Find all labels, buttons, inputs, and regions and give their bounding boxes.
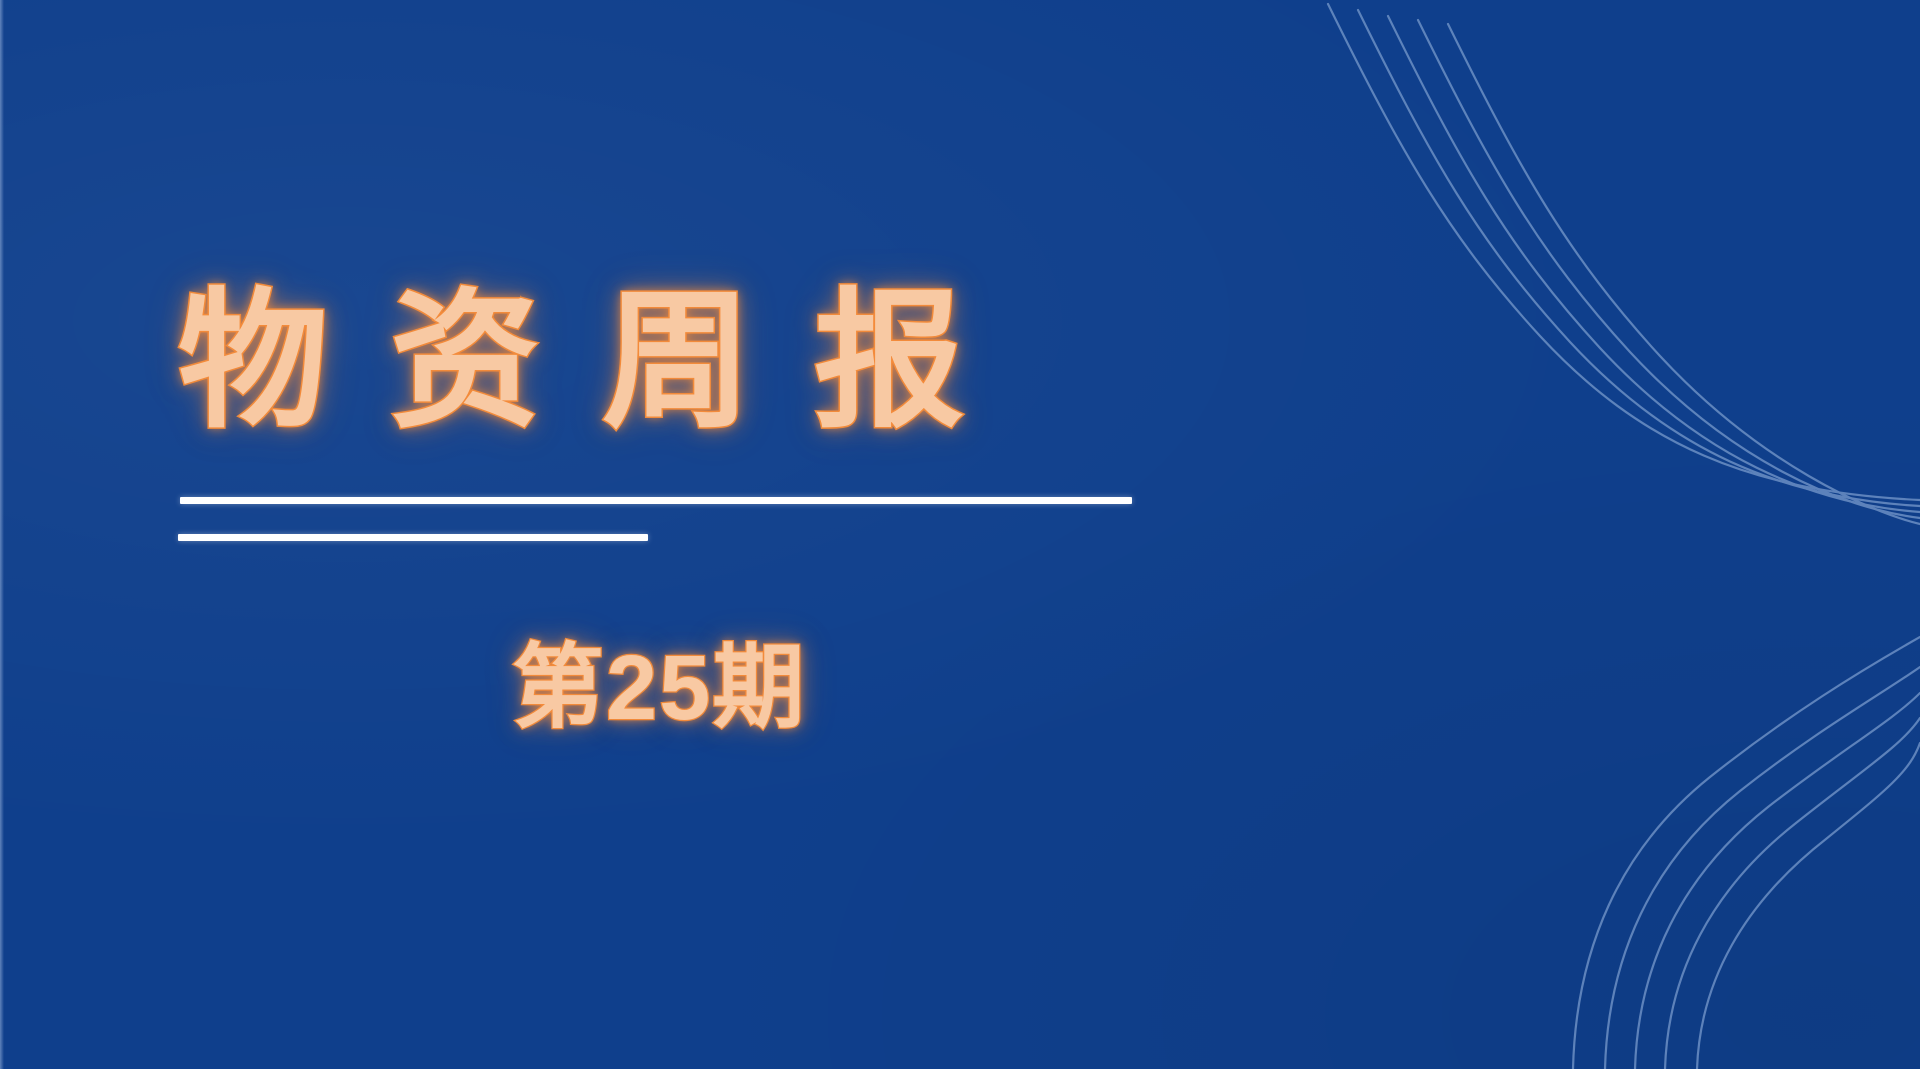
wave-line-tr-1 <box>1328 4 1920 500</box>
wave-line-tr-4 <box>1418 20 1920 518</box>
slide-title: 物资周报 <box>178 286 1178 436</box>
wave-lines-bottom-right-decoration <box>1240 599 1920 1069</box>
slide-subtitle: 第25期 <box>512 640 806 737</box>
wave-line-tr-2 <box>1358 10 1920 506</box>
wave-line-tr-3 <box>1388 16 1920 512</box>
wave-line-br-2 <box>1605 667 1920 1069</box>
wave-line-br-5 <box>1697 743 1920 1069</box>
wave-line-tr-5 <box>1448 24 1920 524</box>
title-underline-short <box>178 534 648 541</box>
wave-line-br-3 <box>1635 693 1920 1069</box>
title-block: 物资周报 <box>178 286 1178 436</box>
wave-lines-top-right-decoration <box>1280 0 1920 560</box>
wave-line-br-4 <box>1665 718 1920 1069</box>
title-slide: 物资周报 第25期 <box>0 0 1920 1069</box>
title-underline-long <box>180 497 1132 504</box>
left-edge-highlight <box>0 0 4 1069</box>
wave-line-br-1 <box>1573 637 1920 1069</box>
